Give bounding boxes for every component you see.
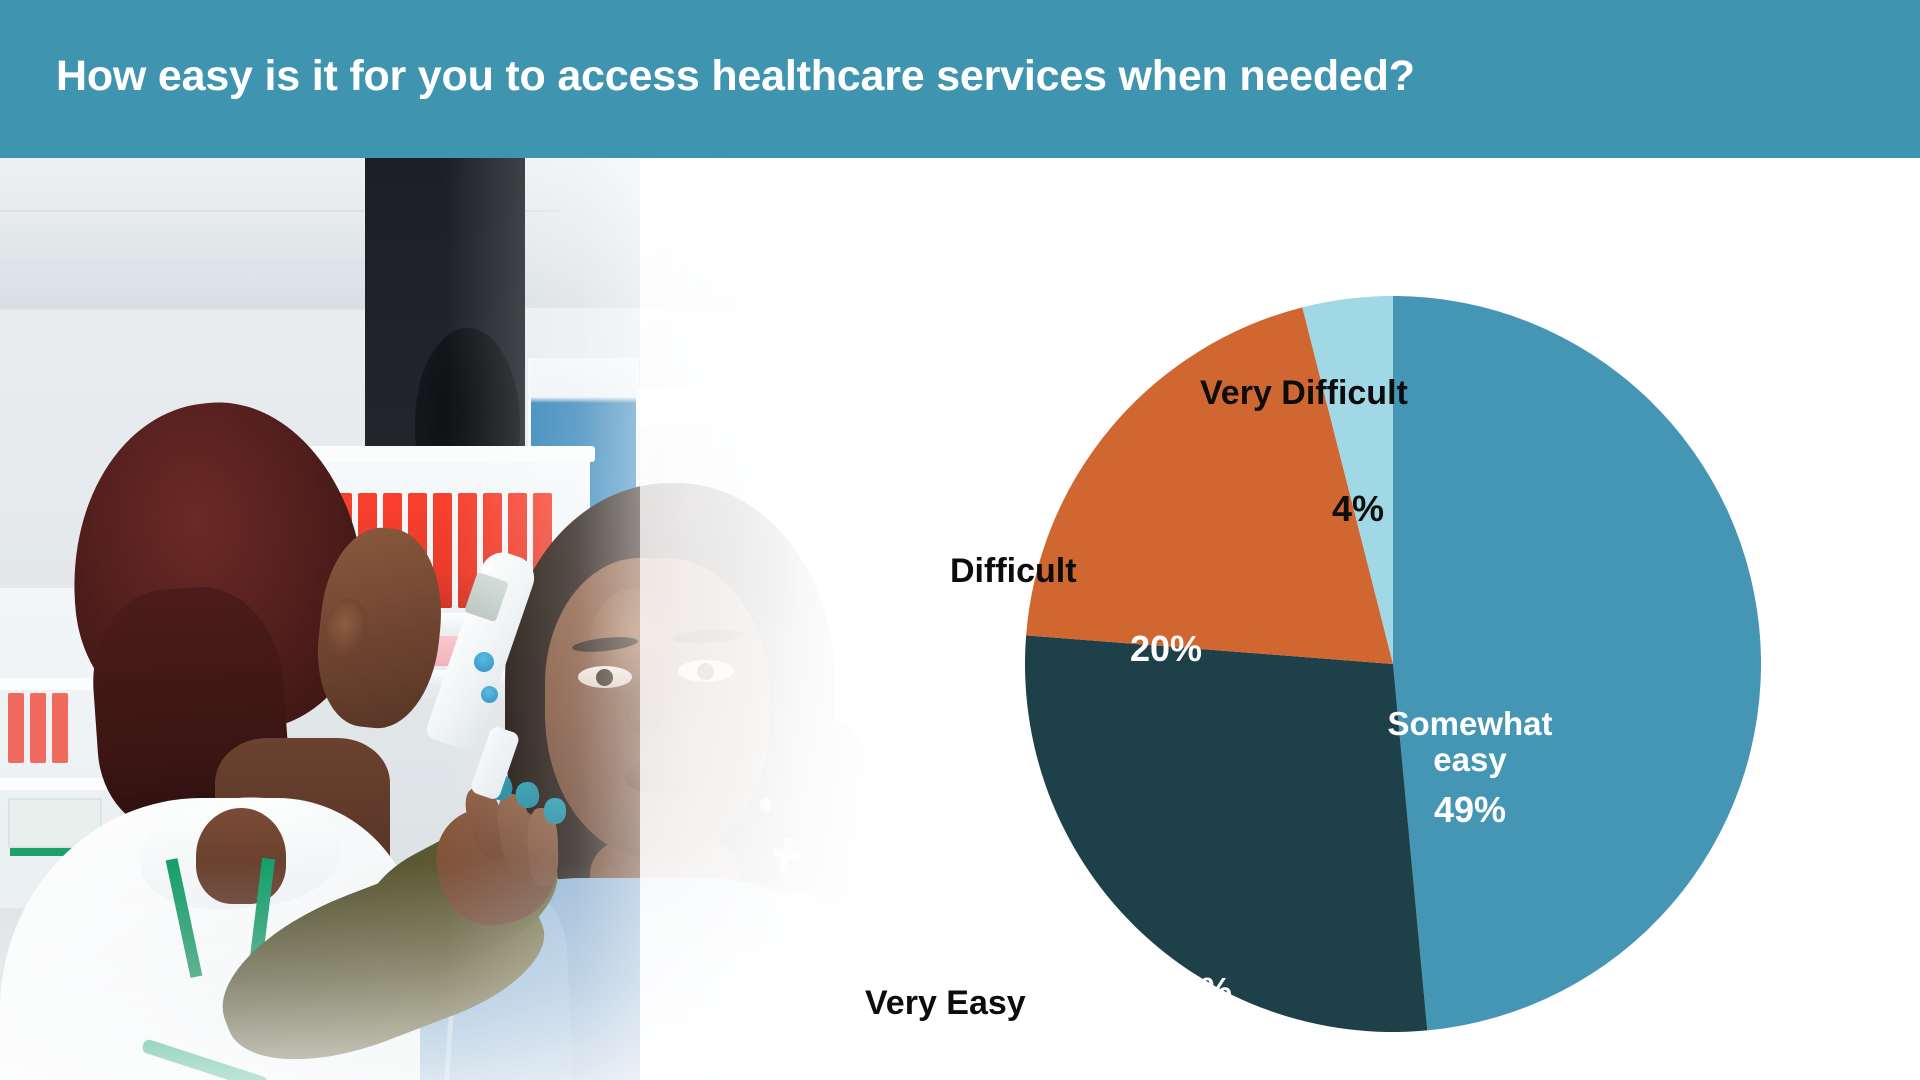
pie-label-very-difficult: Very Difficult xyxy=(1200,374,1408,413)
pie-value-somewhat-easy: 49% xyxy=(1340,789,1600,831)
page-title: How easy is it for you to access healthc… xyxy=(56,52,1415,101)
pie-slice-somewhat-easy[interactable] xyxy=(1393,296,1761,1030)
pie-value-difficult: 20% xyxy=(1130,628,1202,670)
slide-canvas: Very Difficult Difficult Very Easy 4% 20… xyxy=(0,0,1920,1080)
pie-value-very-easy: 28% xyxy=(1160,970,1232,1012)
pie-label-somewhat-easy: Somewhat easy 49% xyxy=(1340,706,1600,831)
pie-chart-svg xyxy=(840,158,1920,1080)
pie-value-very-difficult: 4% xyxy=(1332,488,1384,530)
pie-label-very-easy: Very Easy xyxy=(865,984,1026,1023)
pie-label-difficult: Difficult xyxy=(950,552,1077,591)
pie-chart: Very Difficult Difficult Very Easy 4% 20… xyxy=(840,158,1920,1080)
pie-label-somewhat-easy-line1: Somewhat xyxy=(1340,706,1600,742)
pie-label-somewhat-easy-line2: easy xyxy=(1340,742,1600,778)
title-bar: How easy is it for you to access healthc… xyxy=(0,0,1920,158)
